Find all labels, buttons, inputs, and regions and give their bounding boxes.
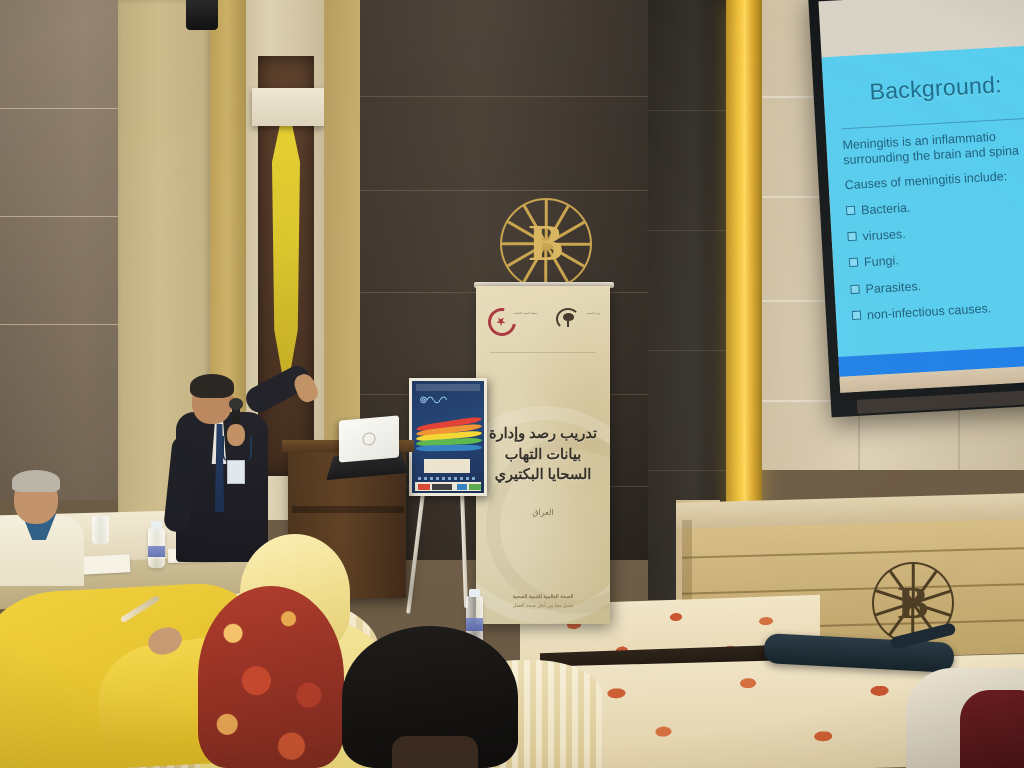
poster-wave-graphic <box>416 421 482 455</box>
laptop-lid <box>339 415 399 462</box>
attendee-far-right-garment <box>960 690 1024 768</box>
banner-title-line-3: السحايا البكتيري <box>484 465 602 486</box>
hp-logo-icon <box>363 432 376 446</box>
microphone-head <box>229 398 243 410</box>
slide-bullet: viruses. <box>847 218 1024 245</box>
b-monogram-letter: B <box>529 218 564 270</box>
slide-body: Meningitis is an inflammatio surrounding… <box>842 127 1024 335</box>
banner-title-line-1: تدريب رصد وإدارة <box>484 424 602 445</box>
red-crescent-logo-icon <box>483 303 522 342</box>
ceiling-speaker <box>186 0 218 30</box>
slide-bullet: Parasites. <box>850 271 1024 298</box>
presentation-slide: Background: Meningitis is an inflammatio… <box>822 45 1024 357</box>
wall-sconce-light <box>252 88 324 126</box>
attendee-seated-left-hair <box>12 470 60 492</box>
rollup-banner: منظمة الصحة العالمية وزارة الصحة تدريب ر… <box>476 286 610 624</box>
slide-divider <box>842 117 1024 129</box>
attendee-foreground-neck <box>392 736 478 768</box>
slide-lead-in: Causes of meningitis include: <box>844 166 1024 193</box>
banner-logo-left-caption: منظمة الصحة العالمية <box>514 312 537 316</box>
slide-bullet: Fungi. <box>849 245 1024 272</box>
banner-footer: الصحة العالمية للتنمية الصحية نعمل معا م… <box>482 593 604 610</box>
b-monogram-letter: B <box>898 580 929 626</box>
lanyard-name-badge <box>227 460 245 484</box>
banner-logo-row: منظمة الصحة العالمية وزارة الصحة <box>484 306 602 332</box>
podium-shelf <box>292 506 404 513</box>
banner-title: تدريب رصد وإدارة بيانات التهاب السحايا ا… <box>484 424 602 486</box>
conference-room-photo: B Background: Meningitis is an inflammat… <box>0 0 1024 768</box>
poster-header-bar <box>416 384 480 391</box>
banner-title-line-2: بيانات التهاب <box>484 445 602 466</box>
banner-logo-right-caption: وزارة الصحة <box>587 312 600 316</box>
screen-surface: Background: Meningitis is an inflammatio… <box>818 0 1024 393</box>
poster-footer-logos <box>415 482 481 491</box>
presenter-hair <box>190 374 234 398</box>
drinking-glass <box>92 516 109 544</box>
banner-footer-line-2: نعمل معا من أجل صحة أفضل <box>482 602 604 611</box>
banner-footer-line-1: الصحة العالمية للتنمية الصحية <box>482 593 604 602</box>
slide-bullet: non-infectious causes. <box>852 297 1024 324</box>
banner-subtitle: العراق <box>476 508 610 517</box>
presenter-mic-hand <box>227 424 245 446</box>
slide-bullet: Bacteria. <box>846 192 1024 219</box>
tree-emblem-logo-icon <box>556 308 580 330</box>
attendee-red-patterned-hijab <box>198 586 344 768</box>
conference-poster: ◎◠◡◠ <box>409 378 487 496</box>
poster-text-box <box>424 459 470 473</box>
poster-brand-text: ◎◠◡◠ <box>420 395 447 404</box>
poster-dot-strip <box>418 477 478 480</box>
slide-bullet-list: Bacteria. viruses. Fungi. Parasites. non… <box>846 192 1024 324</box>
banner-divider <box>490 352 596 353</box>
water-bottle <box>148 528 165 568</box>
b-monogram-sunburst-icon: B <box>500 198 592 290</box>
slide-title: Background: <box>869 71 1003 105</box>
projection-screen: Background: Meningitis is an inflammatio… <box>808 0 1024 417</box>
